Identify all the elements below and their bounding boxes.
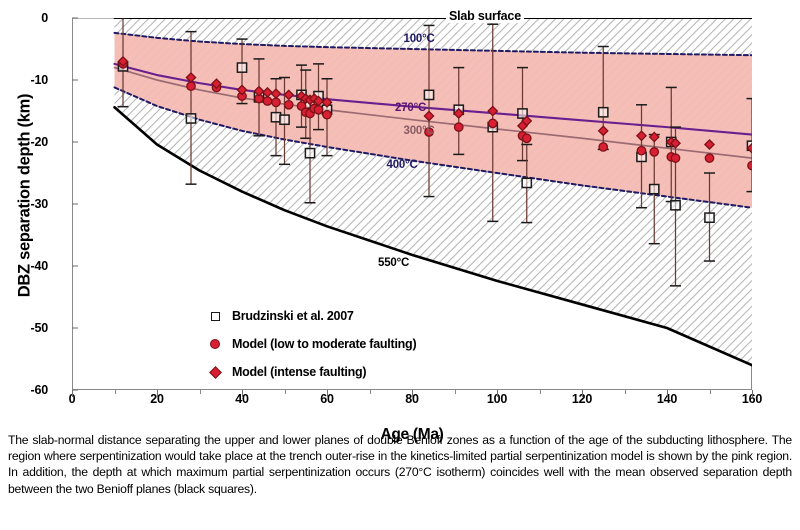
x-tick-mark: [582, 390, 583, 397]
annotation-isotherm-300c: 300°C: [404, 125, 435, 137]
y-tick-mark: [72, 80, 78, 81]
y-tick-label: 0: [41, 11, 48, 25]
caption-divider: [0, 424, 800, 425]
x-tick-minor: [540, 390, 541, 394]
annotation-isotherm-270c: 270°C: [395, 102, 426, 114]
y-tick-label: -20: [31, 135, 48, 149]
x-tick-mark: [72, 390, 73, 397]
annotation-isotherm-400c: 400°C: [387, 159, 418, 171]
figure-double-benioff-zone: Slab surface 100°C 270°C 300°C 400°C 550…: [0, 0, 800, 530]
x-tick-minor: [370, 390, 371, 394]
y-tick-label: -30: [31, 197, 48, 211]
caption-text: The slab-normal distance separating the …: [8, 432, 792, 497]
y-tick-label: -50: [31, 321, 48, 335]
open-square-icon: [202, 312, 228, 321]
y-tick-label: -60: [31, 383, 48, 397]
x-tick-minor: [200, 390, 201, 394]
x-tick-minor: [285, 390, 286, 394]
annotation-isotherm-100c: 100°C: [404, 33, 435, 45]
legend-item-brudzinski: Brudzinski et al. 2007: [202, 302, 416, 330]
annotation-isotherm-550c: 550°C: [378, 257, 409, 269]
x-tick-mark: [412, 390, 413, 397]
y-tick-mark: [72, 18, 78, 19]
x-tick-mark: [667, 390, 668, 397]
chart-legend: Brudzinski et al. 2007 Model (low to mod…: [202, 302, 416, 386]
legend-label-brudzinski: Brudzinski et al. 2007: [232, 309, 354, 323]
y-tick-mark: [72, 328, 78, 329]
legend-item-model-low-moderate: Model (low to moderate faulting): [202, 330, 416, 358]
y-tick-mark: [72, 204, 78, 205]
legend-label-model-low-moderate: Model (low to moderate faulting): [232, 337, 416, 351]
y-tick-label: -10: [31, 73, 48, 87]
x-tick-mark: [242, 390, 243, 397]
x-tick-minor: [625, 390, 626, 394]
x-tick-mark: [497, 390, 498, 397]
y-tick-mark: [72, 142, 78, 143]
y-tick-label: -40: [31, 259, 48, 273]
y-tick-mark: [72, 266, 78, 267]
x-tick-minor: [115, 390, 116, 394]
red-circle-icon: [202, 339, 228, 349]
x-tick-mark: [327, 390, 328, 397]
legend-item-model-intense: Model (intense faulting): [202, 358, 416, 386]
annotation-slab-surface: Slab surface: [446, 9, 524, 23]
legend-label-model-intense: Model (intense faulting): [232, 365, 366, 379]
red-diamond-icon: [202, 368, 228, 377]
plot-area: Slab surface 100°C 270°C 300°C 400°C 550…: [72, 18, 752, 390]
figure-caption: The slab-normal distance separating the …: [8, 432, 792, 497]
x-tick-minor: [710, 390, 711, 394]
x-tick-mark: [157, 390, 158, 397]
x-tick-minor: [455, 390, 456, 394]
x-tick-mark: [752, 390, 753, 397]
